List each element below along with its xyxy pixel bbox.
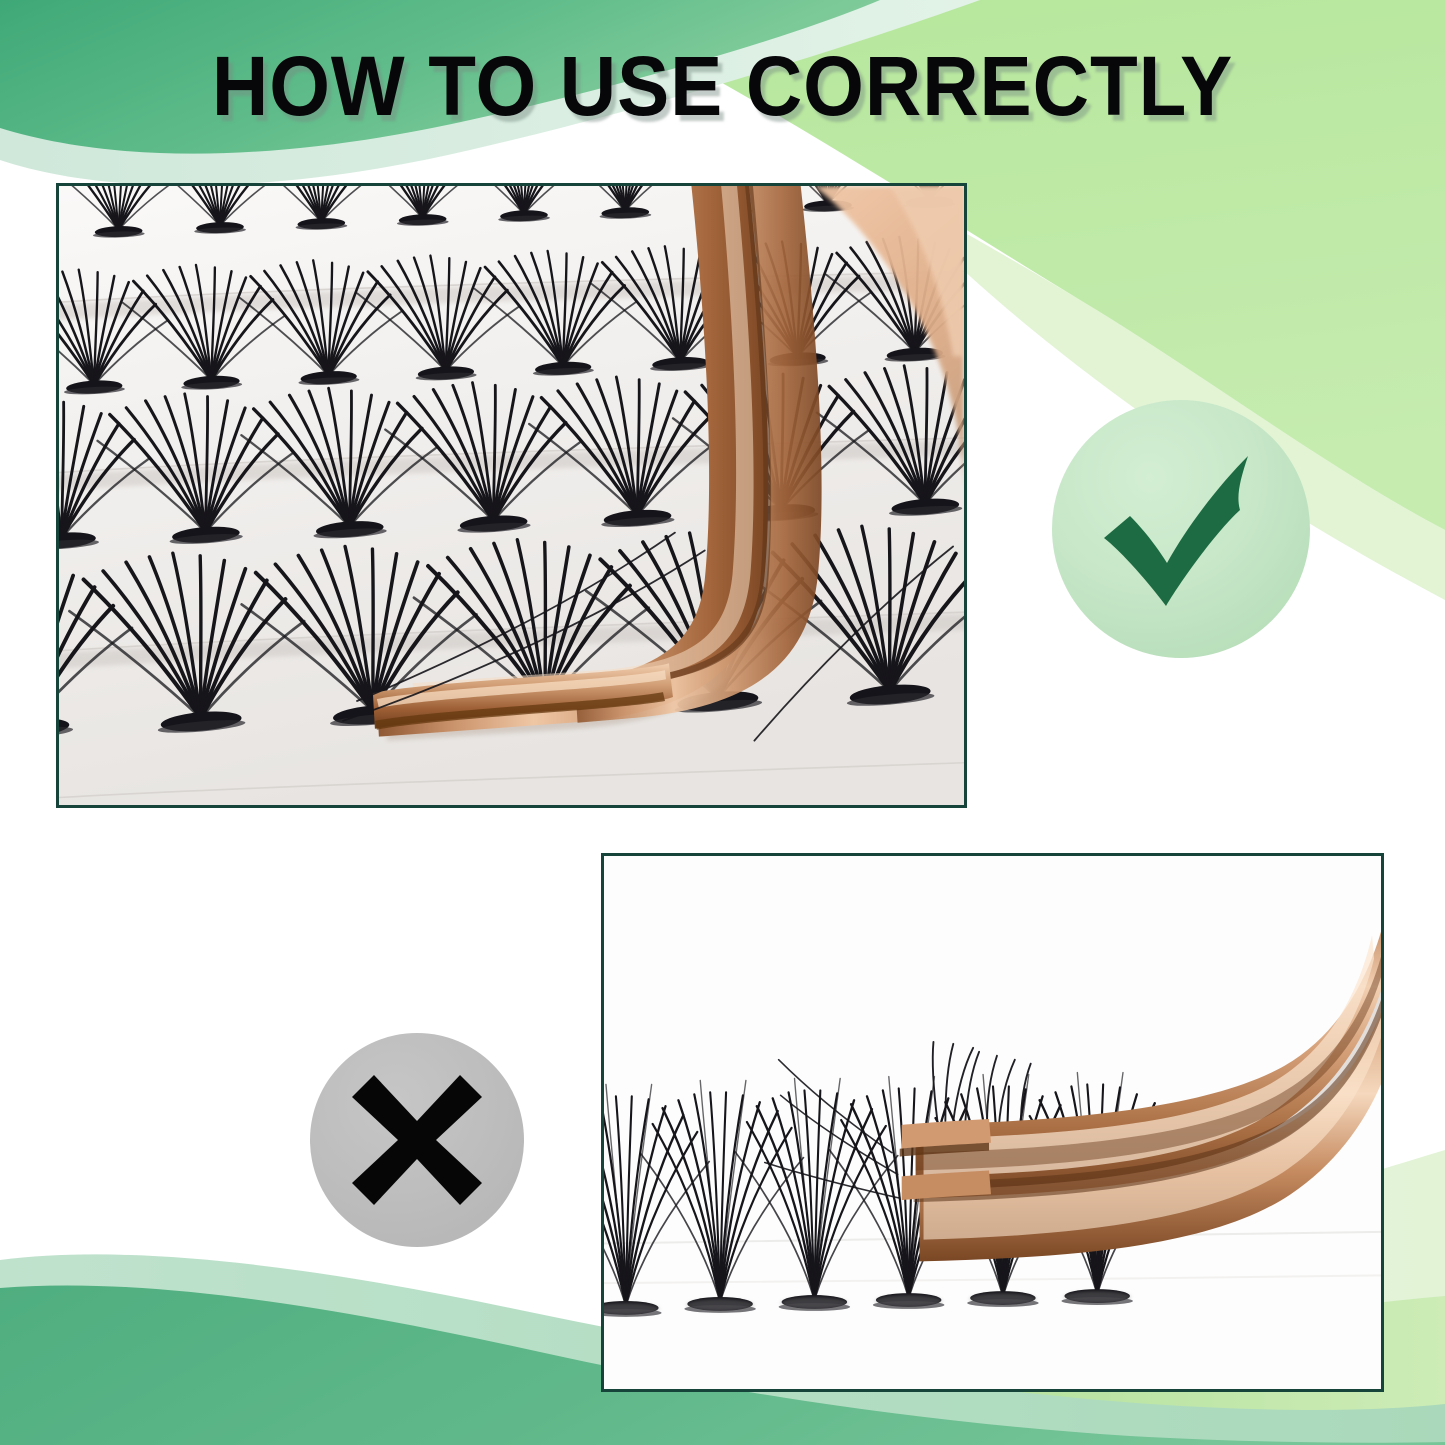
- cross-badge: [310, 1033, 524, 1247]
- lash-tray-top-view-photo: [59, 186, 964, 805]
- check-badge: [1052, 400, 1310, 658]
- page-title: HOW TO USE CORRECTLY: [51, 44, 1395, 128]
- close-icon: [310, 1033, 524, 1247]
- lash-row-side-view-photo: [604, 856, 1381, 1389]
- infographic-page: HOW TO USE CORRECTLY: [0, 0, 1445, 1445]
- photo-frame-incorrect: [601, 853, 1384, 1392]
- check-icon: [1052, 400, 1310, 658]
- photo-frame-correct: [56, 183, 967, 808]
